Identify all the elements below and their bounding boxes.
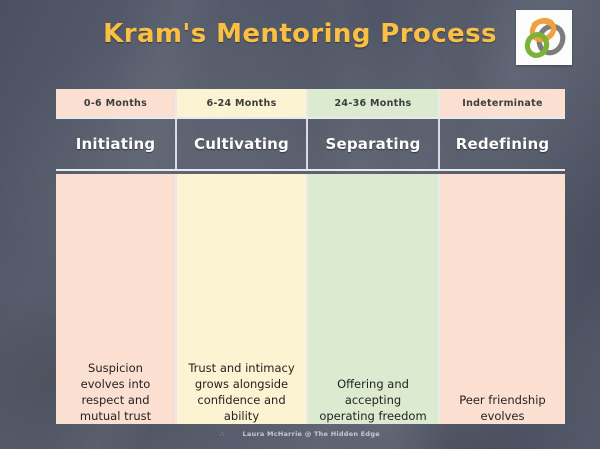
body-cell-initiating: Suspicion evolves into respect and mutua… [56, 174, 177, 424]
timeframe-label-2: 6-24 Months [206, 98, 276, 109]
body-text-1: Suspicion evolves into respect and mutua… [65, 360, 166, 424]
phase-cell-cultivating: Cultivating [177, 119, 308, 169]
timeframe-label-4: Indeterminate [462, 98, 542, 109]
table-header-timeframe-row: 0-6 Months 6-24 Months 24-36 Months Inde… [56, 89, 565, 117]
footer-mark-icon: ∴ [220, 430, 224, 438]
phase-cell-redefining: Redefining [440, 119, 565, 169]
interlocking-rings-icon [516, 10, 572, 65]
phase-label-1: Initiating [76, 135, 156, 153]
phase-label-3: Separating [325, 135, 420, 153]
phase-cell-separating: Separating [308, 119, 440, 169]
timeframe-cell-4: Indeterminate [440, 89, 565, 117]
body-text-4: Peer friendship evolves [449, 392, 556, 424]
body-cell-separating: Offering and accepting operating freedom [308, 174, 440, 424]
table-header-phase-row: Initiating Cultivating Separating Redefi… [56, 117, 565, 171]
timeframe-label-3: 24-36 Months [335, 98, 412, 109]
phase-cell-initiating: Initiating [56, 119, 177, 169]
mentoring-phases-table: 0-6 Months 6-24 Months 24-36 Months Inde… [56, 89, 565, 420]
timeframe-cell-2: 6-24 Months [177, 89, 308, 117]
page-title: Kram's Mentoring Process [0, 19, 600, 49]
table-body-row: Suspicion evolves into respect and mutua… [56, 174, 565, 424]
body-cell-redefining: Peer friendship evolves [440, 174, 565, 424]
body-text-2: Trust and intimacy grows alongside confi… [186, 360, 297, 424]
timeframe-cell-1: 0-6 Months [56, 89, 177, 117]
body-text-3: Offering and accepting operating freedom [317, 376, 429, 424]
brand-logo[interactable] [516, 10, 572, 65]
phase-label-4: Redefining [456, 135, 550, 153]
footer-credit-text: Laura McHarrie @ The Hidden Edge [243, 430, 380, 438]
footer-credit: ∴Laura McHarrie @ The Hidden Edge [0, 430, 600, 438]
slide-canvas: Kram's Mentoring Process 0-6 Months 6-2 [0, 0, 600, 449]
phase-label-2: Cultivating [194, 135, 289, 153]
body-cell-cultivating: Trust and intimacy grows alongside confi… [177, 174, 308, 424]
timeframe-cell-3: 24-36 Months [308, 89, 440, 117]
timeframe-label-1: 0-6 Months [84, 98, 147, 109]
